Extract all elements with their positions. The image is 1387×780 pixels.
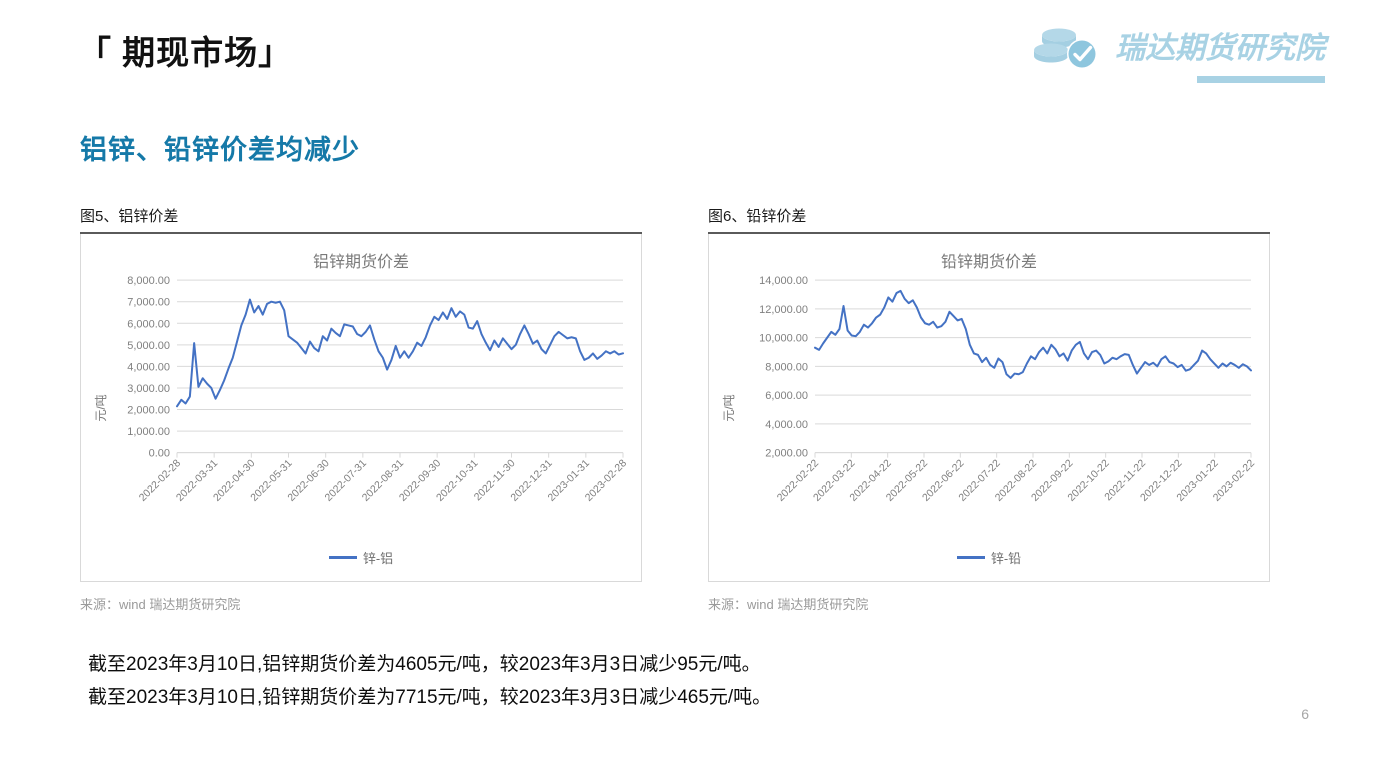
svg-text:6,000.00: 6,000.00 xyxy=(765,390,808,402)
coins-check-icon xyxy=(1032,25,1106,73)
svg-text:5,000.00: 5,000.00 xyxy=(127,340,170,352)
logo-text: 瑞达期货研究院 xyxy=(1115,34,1325,64)
svg-text:4,000.00: 4,000.00 xyxy=(127,361,170,373)
chart-caption-1: 图5、铝锌价差 xyxy=(80,205,642,232)
chart-source-1: 来源：wind 瑞达期货研究院 xyxy=(80,594,642,613)
chart-caption-2: 图6、铅锌价差 xyxy=(708,205,1270,232)
svg-text:8,000.00: 8,000.00 xyxy=(765,361,808,373)
svg-text:12,000.00: 12,000.00 xyxy=(759,304,808,316)
chart-plot-2: 2,000.004,000.006,000.008,000.0010,000.0… xyxy=(709,234,1269,581)
svg-text:3,000.00: 3,000.00 xyxy=(127,383,170,395)
chart-source-2: 来源：wind 瑞达期货研究院 xyxy=(708,594,1270,613)
chart-body-2: 铅锌期货价差 元/吨 2,000.004,000.006,000.008,000… xyxy=(708,234,1270,582)
svg-text:2,000.00: 2,000.00 xyxy=(765,448,808,460)
chart-panel-2: 图6、铅锌价差 铅锌期货价差 元/吨 2,000.004,000.006,000… xyxy=(708,205,1270,613)
svg-text:7,000.00: 7,000.00 xyxy=(127,297,170,309)
section-subtitle: 铝锌、铅锌价差均减少 xyxy=(80,128,360,167)
chart-panel-1: 图5、铝锌价差 铝锌期货价差 元/吨 0.001,000.002,000.003… xyxy=(80,205,642,613)
svg-text:0.00: 0.00 xyxy=(149,448,170,460)
svg-text:4,000.00: 4,000.00 xyxy=(765,419,808,431)
svg-text:6,000.00: 6,000.00 xyxy=(127,318,170,330)
chart-legend-1: 锌-铝 xyxy=(81,548,641,567)
legend-swatch-2 xyxy=(957,556,985,559)
summary-line-1: 截至2023年3月10日,铝锌期货价差为4605元/吨，较2023年3月3日减少… xyxy=(88,648,771,681)
svg-text:8,000.00: 8,000.00 xyxy=(127,275,170,287)
svg-text:2,000.00: 2,000.00 xyxy=(127,405,170,417)
legend-label-1: 锌-铝 xyxy=(363,548,393,567)
logo-underline xyxy=(1197,76,1325,83)
page-number: 6 xyxy=(1301,706,1309,722)
company-logo: 瑞达期货研究院 xyxy=(1032,25,1325,73)
summary-text: 截至2023年3月10日,铝锌期货价差为4605元/吨，较2023年3月3日减少… xyxy=(88,648,771,715)
svg-text:14,000.00: 14,000.00 xyxy=(759,275,808,287)
svg-text:1,000.00: 1,000.00 xyxy=(127,426,170,438)
summary-line-2: 截至2023年3月10日,铅锌期货价差为7715元/吨，较2023年3月3日减少… xyxy=(88,681,771,714)
slide-page: 「 期现市场」 瑞达期货研究院 铝锌、铅锌价差均减少 图5、铝锌价差 铝锌期货价… xyxy=(0,0,1387,780)
chart-body-1: 铝锌期货价差 元/吨 0.001,000.002,000.003,000.004… xyxy=(80,234,642,582)
legend-label-2: 锌-铅 xyxy=(991,548,1021,567)
chart-legend-2: 锌-铅 xyxy=(709,548,1269,567)
legend-swatch-1 xyxy=(329,556,357,559)
chart-plot-1: 0.001,000.002,000.003,000.004,000.005,00… xyxy=(81,234,641,581)
page-title: 「 期现市场」 xyxy=(78,26,292,74)
svg-text:10,000.00: 10,000.00 xyxy=(759,333,808,345)
